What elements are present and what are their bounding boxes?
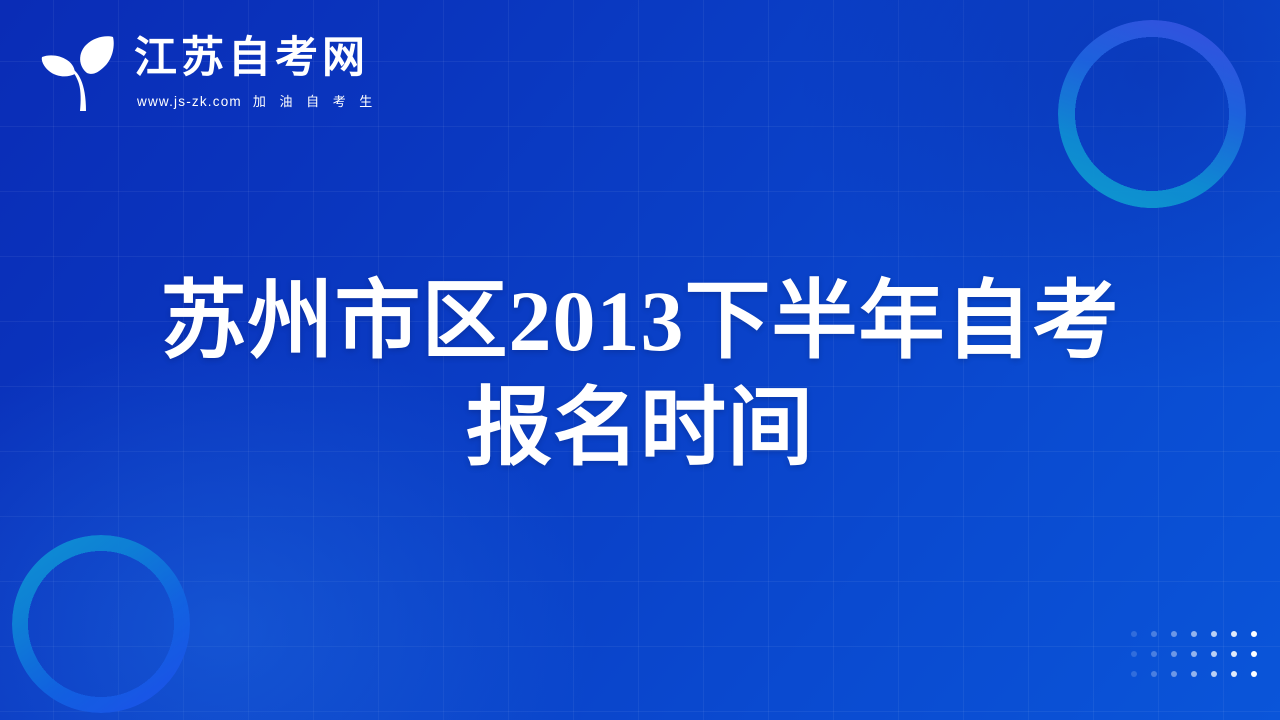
dot [1151,651,1157,657]
decorative-ring-top-right [1058,20,1246,208]
dot [1231,671,1237,677]
dot [1251,631,1257,637]
page-title: 苏州市区2013下半年自考报名时间 [0,268,1280,481]
logo-text: 江苏自考网 www.js-zk.com 加 油 自 考 生 [134,36,377,109]
dot [1251,671,1257,677]
dot [1191,631,1197,637]
logo-tagline-url: www.js-zk.com [137,94,242,109]
dot [1191,671,1197,677]
dot [1171,671,1177,677]
dot [1151,631,1157,637]
dot [1131,671,1137,677]
dot [1191,651,1197,657]
dot [1211,631,1217,637]
site-logo[interactable]: 江苏自考网 www.js-zk.com 加 油 自 考 生 [34,33,377,113]
dot [1211,671,1217,677]
sprout-icon [34,33,120,113]
logo-tagline-slogan: 加 油 自 考 生 [253,91,377,110]
dot [1151,671,1157,677]
poster-canvas: 江苏自考网 www.js-zk.com 加 油 自 考 生 苏州市区2013下半… [0,0,1280,720]
logo-title: 江苏自考网 [134,36,377,81]
dot [1171,651,1177,657]
dot [1131,651,1137,657]
dot [1251,651,1257,657]
dot [1211,651,1217,657]
decorative-ring-bottom-left [12,535,190,713]
dot [1231,631,1237,637]
dot [1171,631,1177,637]
decorative-dot-grid [1124,624,1264,684]
logo-tagline: www.js-zk.com 加 油 自 考 生 [137,91,377,110]
dot [1231,651,1237,657]
dot [1131,631,1137,637]
